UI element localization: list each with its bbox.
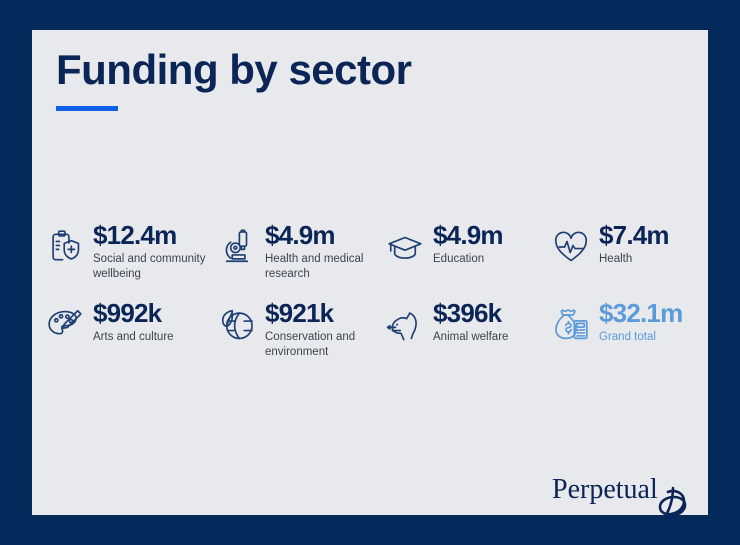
stat-text: $396k Animal welfare xyxy=(433,300,508,345)
stat-item-social-community-wellbeing: $12.4m Social and community wellbeing xyxy=(44,218,216,296)
stat-text: $921k Conservation and environment xyxy=(265,300,384,359)
stat-label: Education xyxy=(433,252,503,267)
title-underline-rule xyxy=(56,106,118,111)
stat-text: $4.9m Health and medical research xyxy=(265,222,384,281)
stat-text: $32.1m Grand total xyxy=(599,300,682,345)
page-title: Funding by sector xyxy=(56,48,412,92)
stat-text: $992k Arts and culture xyxy=(93,300,174,345)
stat-value: $7.4m xyxy=(599,222,669,249)
stat-item-conservation-environment: $921k Conservation and environment xyxy=(216,296,384,374)
microscope-icon xyxy=(216,226,258,268)
stat-item-education: $4.9m Education xyxy=(384,218,550,296)
stat-value: $396k xyxy=(433,300,508,327)
stat-label: Health xyxy=(599,252,669,267)
stat-value: $32.1m xyxy=(599,300,682,327)
logo-wordmark: Perpetual xyxy=(552,474,658,505)
stat-text: $7.4m Health xyxy=(599,222,669,267)
stat-label: Social and community wellbeing xyxy=(93,252,216,281)
palette-icon xyxy=(44,304,86,346)
heart-pulse-icon xyxy=(550,226,592,268)
stat-label: Grand total xyxy=(599,330,682,345)
stat-label: Animal welfare xyxy=(433,330,508,345)
content-panel: Funding by sector $12.4m So xyxy=(32,30,708,515)
stat-label: Arts and culture xyxy=(93,330,174,345)
stat-item-health: $7.4m Health xyxy=(550,218,708,296)
stat-value: $4.9m xyxy=(265,222,384,249)
perpetual-logo: Perpetual xyxy=(552,470,697,528)
slide-root: Funding by sector $12.4m So xyxy=(0,0,740,545)
stat-item-health-medical-research: $4.9m Health and medical research xyxy=(216,218,384,296)
stat-text: $4.9m Education xyxy=(433,222,503,267)
stat-value: $4.9m xyxy=(433,222,503,249)
stat-item-arts-and-culture: $992k Arts and culture xyxy=(44,296,216,374)
stat-item-grand-total: $32.1m Grand total xyxy=(550,296,708,374)
stat-value: $992k xyxy=(93,300,174,327)
stat-value: $12.4m xyxy=(93,222,216,249)
stat-text: $12.4m Social and community wellbeing xyxy=(93,222,216,281)
stat-item-animal-welfare: $396k Animal welfare xyxy=(384,296,550,374)
money-bag-calculator-icon xyxy=(550,304,592,346)
title-block: Funding by sector xyxy=(56,48,412,111)
stat-label: Health and medical research xyxy=(265,252,384,281)
stat-value: $921k xyxy=(265,300,384,327)
stat-label: Conservation and environment xyxy=(265,330,384,359)
clipboard-shield-icon xyxy=(44,226,86,268)
stats-grid: $12.4m Social and community wellbeing xyxy=(44,218,708,374)
graduation-cap-icon xyxy=(384,226,426,268)
globe-leaf-icon xyxy=(216,304,258,346)
dog-head-icon xyxy=(384,304,426,346)
